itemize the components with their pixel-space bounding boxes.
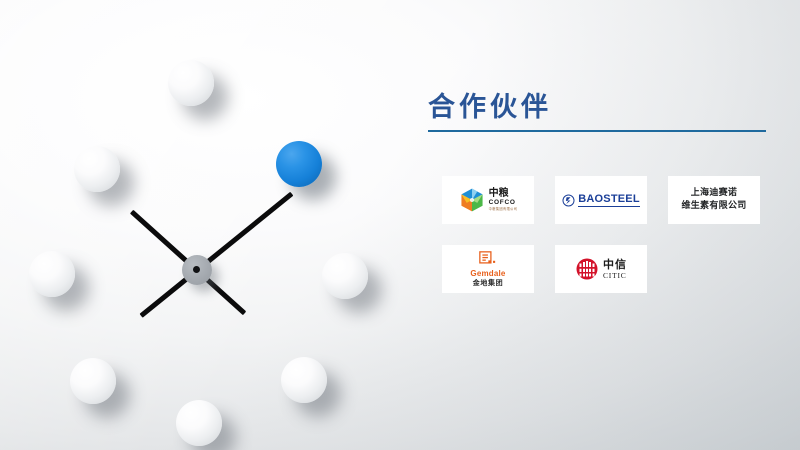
baosteel-emblem-icon bbox=[562, 194, 575, 207]
gemdale-label-en: Gemdale bbox=[470, 270, 505, 278]
cofco-label-en: COFCO bbox=[489, 200, 516, 207]
wall-clock-graphic bbox=[8, 42, 404, 438]
partners-panel: 合作伙伴 bbox=[428, 92, 774, 132]
cofco-cube-icon bbox=[459, 187, 485, 213]
baosteel-label: BAOSTEEL bbox=[578, 193, 640, 207]
partner-card-disano[interactable]: 上海迪赛诺 维生素有限公司 bbox=[668, 176, 760, 224]
partner-card-gemdale[interactable]: Gemdale 金地集团 bbox=[442, 245, 534, 293]
disano-label-line2: 维生素有限公司 bbox=[681, 200, 746, 213]
page-title: 合作伙伴 bbox=[428, 92, 774, 123]
clock-minute-hand bbox=[195, 192, 293, 273]
clock-marker-accent bbox=[276, 141, 322, 187]
partner-card-citic[interactable]: 中信 CITIC bbox=[555, 245, 647, 293]
clock-hub-cap bbox=[193, 266, 200, 273]
citic-label-cn: 中信 bbox=[603, 259, 627, 270]
clock-marker-4 bbox=[281, 357, 327, 403]
gemdale-label-cn: 金地集团 bbox=[473, 280, 503, 287]
gemdale-mark-icon bbox=[478, 251, 497, 268]
cofco-tagline: 中粮集团有限公司 bbox=[489, 208, 518, 211]
clock-marker-10 bbox=[74, 146, 120, 192]
clock-marker-6 bbox=[176, 400, 222, 446]
disano-label-line1: 上海迪赛诺 bbox=[681, 187, 746, 200]
partner-logo-grid: 中粮 COFCO 中粮集团有限公司 BAOSTEEL 上海迪赛诺 维生素有限公司 bbox=[442, 176, 776, 293]
citic-label-en: CITIC bbox=[603, 272, 627, 280]
citic-emblem-icon bbox=[575, 257, 599, 281]
partner-card-cofco[interactable]: 中粮 COFCO 中粮集团有限公司 bbox=[442, 176, 534, 224]
clock-marker-12 bbox=[168, 60, 214, 106]
partner-card-baosteel[interactable]: BAOSTEEL bbox=[555, 176, 647, 224]
clock-marker-9 bbox=[29, 251, 75, 297]
partner-card-placeholder bbox=[668, 245, 760, 293]
clock-marker-7 bbox=[70, 358, 116, 404]
title-underline bbox=[428, 130, 766, 132]
cofco-label-cn: 中粮 bbox=[489, 189, 509, 199]
clock-marker-3 bbox=[322, 253, 368, 299]
